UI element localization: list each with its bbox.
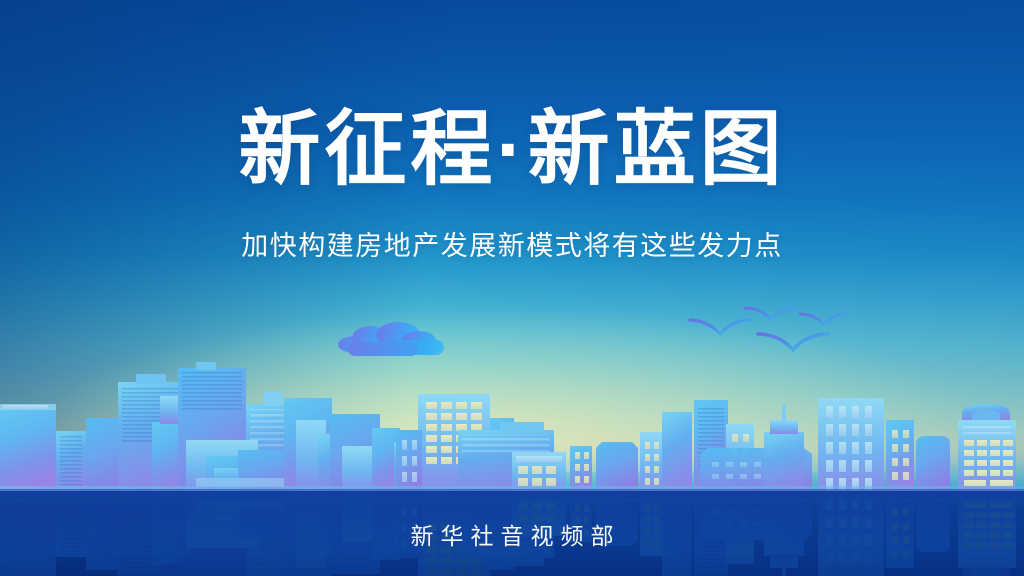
city-skyline	[0, 0, 1024, 576]
page-subtitle: 加快构建房地产发展新模式将有这些发力点	[0, 228, 1024, 264]
page-title: 新征程·新蓝图	[0, 104, 1024, 196]
publisher-credit: 新华社音视频部	[0, 521, 1024, 551]
poster-canvas: 新征程·新蓝图 加快构建房地产发展新模式将有这些发力点 新华社音视频部	[0, 0, 1024, 576]
